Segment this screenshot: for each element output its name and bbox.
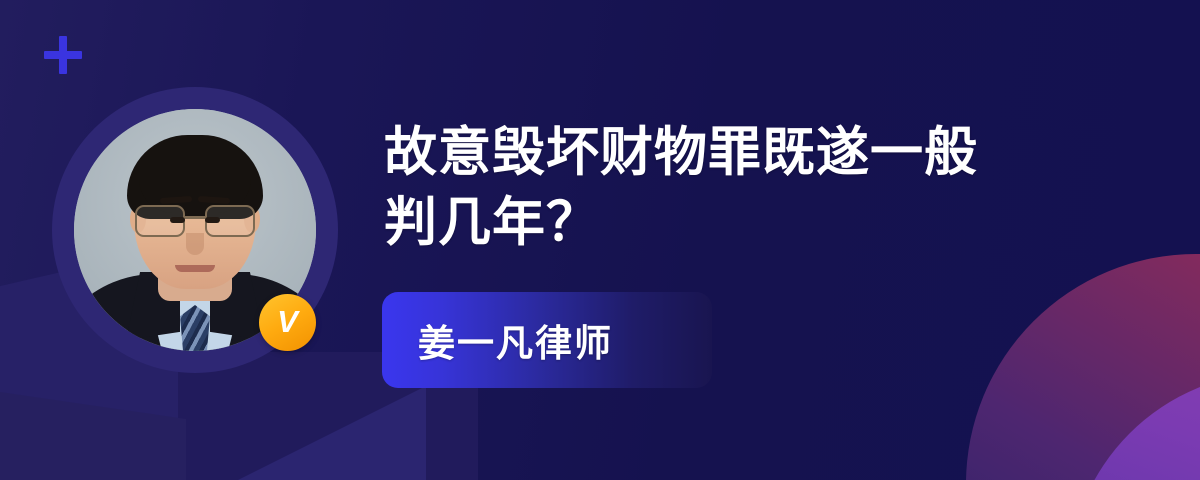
lawyer-name-badge[interactable]: 姜一凡律师: [382, 292, 712, 388]
banner-content: 故意毁坏财物罪既遂一般 判几年？: [384, 118, 1104, 259]
lawyer-qa-banner: V 故意毁坏财物罪既遂一般 判几年？ 姜一凡律师: [0, 0, 1200, 480]
plus-icon: [44, 36, 82, 74]
verified-badge-icon: V: [259, 294, 316, 351]
verified-badge-letter: V: [277, 306, 298, 337]
page-title: 故意毁坏财物罪既遂一般 判几年？: [384, 118, 1104, 259]
lawyer-name-label: 姜一凡律师: [418, 313, 613, 367]
